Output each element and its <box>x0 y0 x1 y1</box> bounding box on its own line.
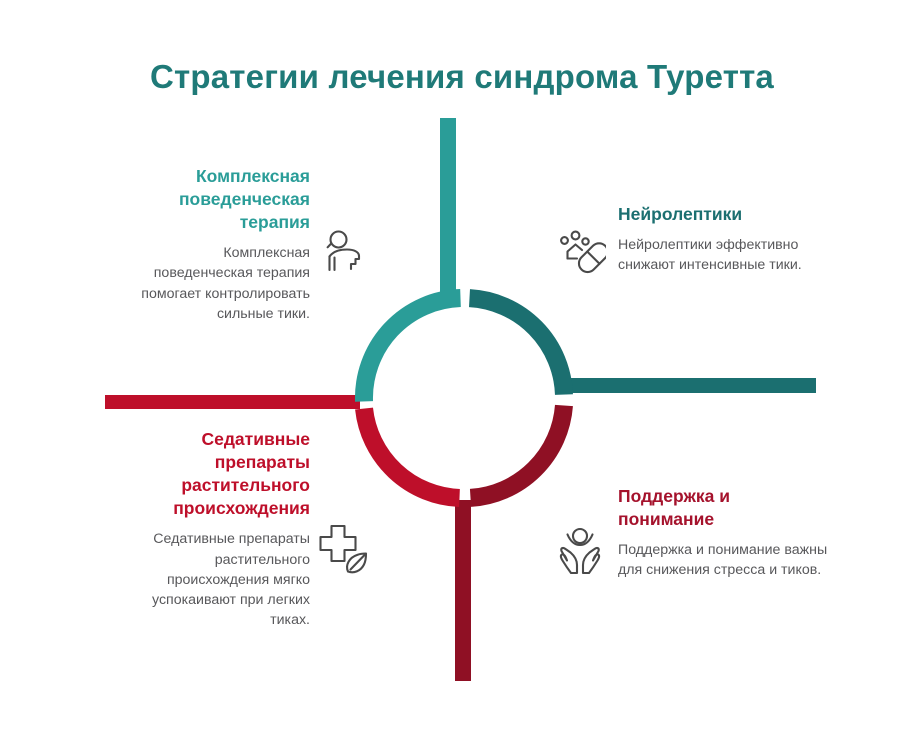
quadrant-body-behavioral-therapy: Комплексная поведенческая терапия помога… <box>130 243 310 324</box>
quadrant-body-support-understanding: Поддержка и понимание важны для снижения… <box>618 540 828 580</box>
connector-line-top <box>440 118 456 298</box>
ring-arc-top-right <box>470 298 564 394</box>
quadrant-heading-herbal-sedatives: Седативные препараты растительного проис… <box>118 428 310 520</box>
quadrant-body-neuroleptics: Нейролептики эффективно снижают интенсив… <box>618 235 818 275</box>
quadrant-herbal-sedatives: Седативные препараты растительного проис… <box>118 428 310 630</box>
quadrant-neuroleptics: Нейролептики Нейролептики эффективно сни… <box>618 203 818 275</box>
ring-arc-top-left <box>364 298 461 401</box>
medical-cross-leaf-icon <box>312 521 376 577</box>
infographic-canvas: Стратегии лечения синдрома Туретта <box>0 0 924 732</box>
pills-capsule-icon <box>554 226 606 278</box>
ring-arc-bottom-right <box>471 405 564 497</box>
connector-line-left <box>105 395 360 409</box>
connector-line-right <box>566 378 816 393</box>
quadrant-support-understanding: Поддержка и понимание Поддержка и понима… <box>618 485 828 581</box>
ring-arc-bottom-left <box>364 409 459 498</box>
quadrant-heading-behavioral-therapy: Комплексная поведенческая терапия <box>130 165 310 234</box>
head-profile-person-icon <box>316 226 368 278</box>
quadrant-heading-support-understanding: Поддержка и понимание <box>618 485 828 531</box>
quadrant-heading-neuroleptics: Нейролептики <box>618 203 818 226</box>
connector-line-bottom <box>455 500 471 681</box>
quadrant-behavioral-therapy: Комплексная поведенческая терапия Компле… <box>130 165 310 324</box>
quadrant-body-herbal-sedatives: Седативные препараты растительного проис… <box>118 529 310 630</box>
hands-holding-person-icon <box>554 526 606 578</box>
